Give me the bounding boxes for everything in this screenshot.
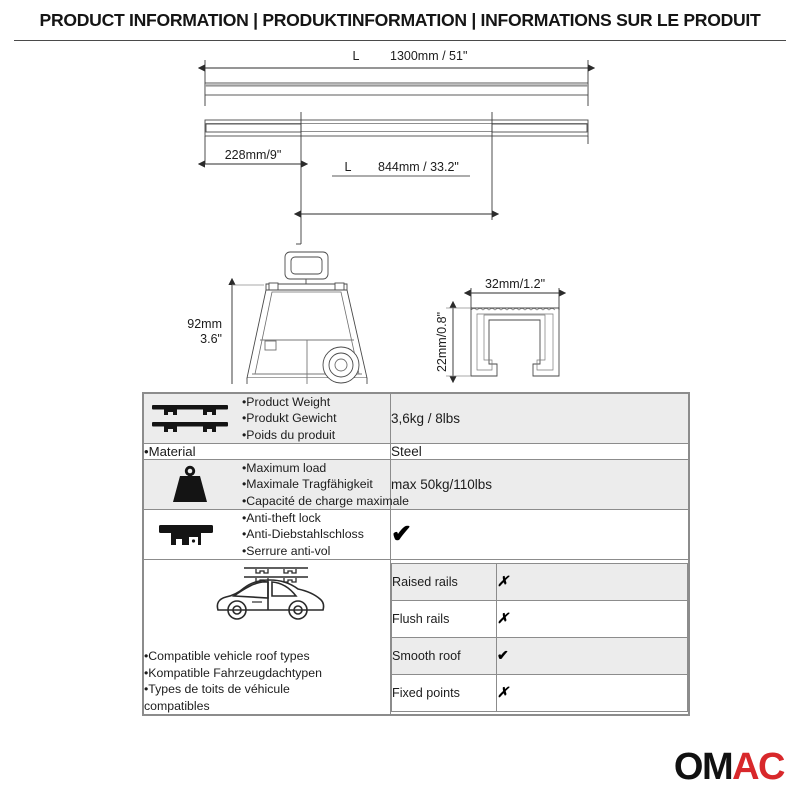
technical-drawing: L 1300mm / 51" 228mm/9" L 844mm / 33.2" …	[0, 44, 800, 384]
roof-type-mark: ✗	[497, 674, 688, 711]
drawing-svg: L 1300mm / 51" 228mm/9" L 844mm / 33.2" …	[0, 44, 800, 384]
dim-span-prefix: L	[345, 160, 352, 174]
table-row: •Material Steel	[144, 444, 689, 460]
roof-type-name: Raised rails	[392, 563, 497, 600]
spec-label-line: •Capacité de charge maximale	[242, 493, 409, 509]
roof-type-row: Raised rails ✗	[392, 563, 688, 600]
dim-total-prefix: L	[353, 49, 360, 63]
roof-bars-icon	[144, 399, 236, 439]
check-icon: ✔	[497, 647, 509, 663]
roof-types-labels: •Compatible vehicle roof types •Kompatib…	[144, 632, 390, 714]
spec-label-line: •Serrure anti-vol	[242, 543, 390, 559]
dim-total-label: 1300mm / 51"	[390, 49, 467, 63]
roof-type-row: Smooth roof ✔	[392, 637, 688, 674]
spec-label-line: •Anti-theft lock	[242, 510, 390, 526]
roof-label-line: •Compatible vehicle roof types	[144, 648, 390, 664]
spec-label-line: •Produkt Gewicht	[242, 410, 390, 426]
dim-profile-width-label: 32mm/1.2"	[485, 277, 545, 291]
spec-label-line: •Maximum load	[242, 460, 409, 476]
spec-value-material: Steel	[391, 444, 689, 460]
cross-icon: ✗	[497, 610, 509, 626]
table-row: •Anti-theft lock •Anti-Diebstahlschloss …	[144, 510, 689, 560]
spec-label-line: •Maximale Tragfähigkeit	[242, 476, 409, 492]
logo-text-dark: OM	[674, 746, 732, 788]
roof-label-line: •Types de toits de véhicule	[144, 681, 390, 697]
roof-type-mark: ✗	[497, 600, 688, 637]
spec-label-cell: •Anti-theft lock •Anti-Diebstahlschloss …	[144, 510, 391, 560]
spec-label-line: •Anti-Diebstahlschloss	[242, 526, 390, 542]
roof-types-label-cell: •Compatible vehicle roof types •Kompatib…	[144, 560, 391, 715]
car-with-rack-icon	[144, 560, 390, 626]
roof-type-row: Flush rails ✗	[392, 600, 688, 637]
cross-icon: ✗	[497, 573, 509, 589]
omac-logo: OMAC	[674, 748, 784, 786]
cross-icon: ✗	[497, 684, 509, 700]
roof-type-mark: ✔	[497, 637, 688, 674]
roof-type-name: Flush rails	[392, 600, 497, 637]
roof-type-name: Fixed points	[392, 674, 497, 711]
check-icon: ✔	[391, 520, 412, 548]
spec-label-cell: •Product Weight •Produkt Gewicht •Poids …	[144, 394, 391, 444]
spec-label-line: •Poids du produit	[242, 427, 390, 443]
dim-height-label-1: 92mm	[187, 317, 222, 331]
lock-icon	[144, 515, 236, 555]
page-title: PRODUCT INFORMATION | PRODUKTINFORMATION…	[0, 10, 800, 31]
spec-value-maximum-load: max 50kg/110lbs	[391, 460, 689, 510]
spec-label-material: •Material	[144, 444, 391, 460]
spec-label-line: •Product Weight	[242, 394, 390, 410]
spec-label-texts: •Anti-theft lock •Anti-Diebstahlschloss …	[242, 510, 390, 559]
table-row: •Maximum load •Maximale Tragfähigkeit •C…	[144, 460, 689, 510]
spec-label-texts: •Maximum load •Maximale Tragfähigkeit •C…	[242, 460, 409, 509]
dim-height-label-2: 3.6"	[200, 332, 222, 346]
logo-text-accent: AC	[732, 746, 784, 788]
specification-table: •Product Weight •Produkt Gewicht •Poids …	[142, 392, 690, 716]
roof-label-line: •Kompatible Fahrzeugdachtypen	[144, 665, 390, 681]
roof-label-line: compatibles	[144, 698, 390, 714]
table-row: •Product Weight •Produkt Gewicht •Poids …	[144, 394, 689, 444]
weight-icon	[144, 464, 236, 506]
spec-value-anti-theft-lock: ✔	[391, 510, 689, 560]
roof-type-mark: ✗	[497, 563, 688, 600]
dim-profile-height-label: 22mm/0.8"	[435, 312, 449, 372]
spec-value-product-weight: 3,6kg / 8lbs	[391, 394, 689, 444]
table-row-roof-types: •Compatible vehicle roof types •Kompatib…	[144, 560, 689, 715]
spec-label-cell: •Maximum load •Maximale Tragfähigkeit •C…	[144, 460, 391, 510]
roof-types-matrix: Raised rails ✗ Flush rails ✗ Smooth roof…	[391, 560, 689, 715]
spec-label-texts: •Product Weight •Produkt Gewicht •Poids …	[242, 394, 390, 443]
roof-type-row: Fixed points ✗	[392, 674, 688, 711]
dim-span-label: 844mm / 33.2"	[378, 160, 459, 174]
roof-type-name: Smooth roof	[392, 637, 497, 674]
header-divider	[14, 40, 786, 41]
dim-offset-label: 228mm/9"	[225, 148, 282, 162]
